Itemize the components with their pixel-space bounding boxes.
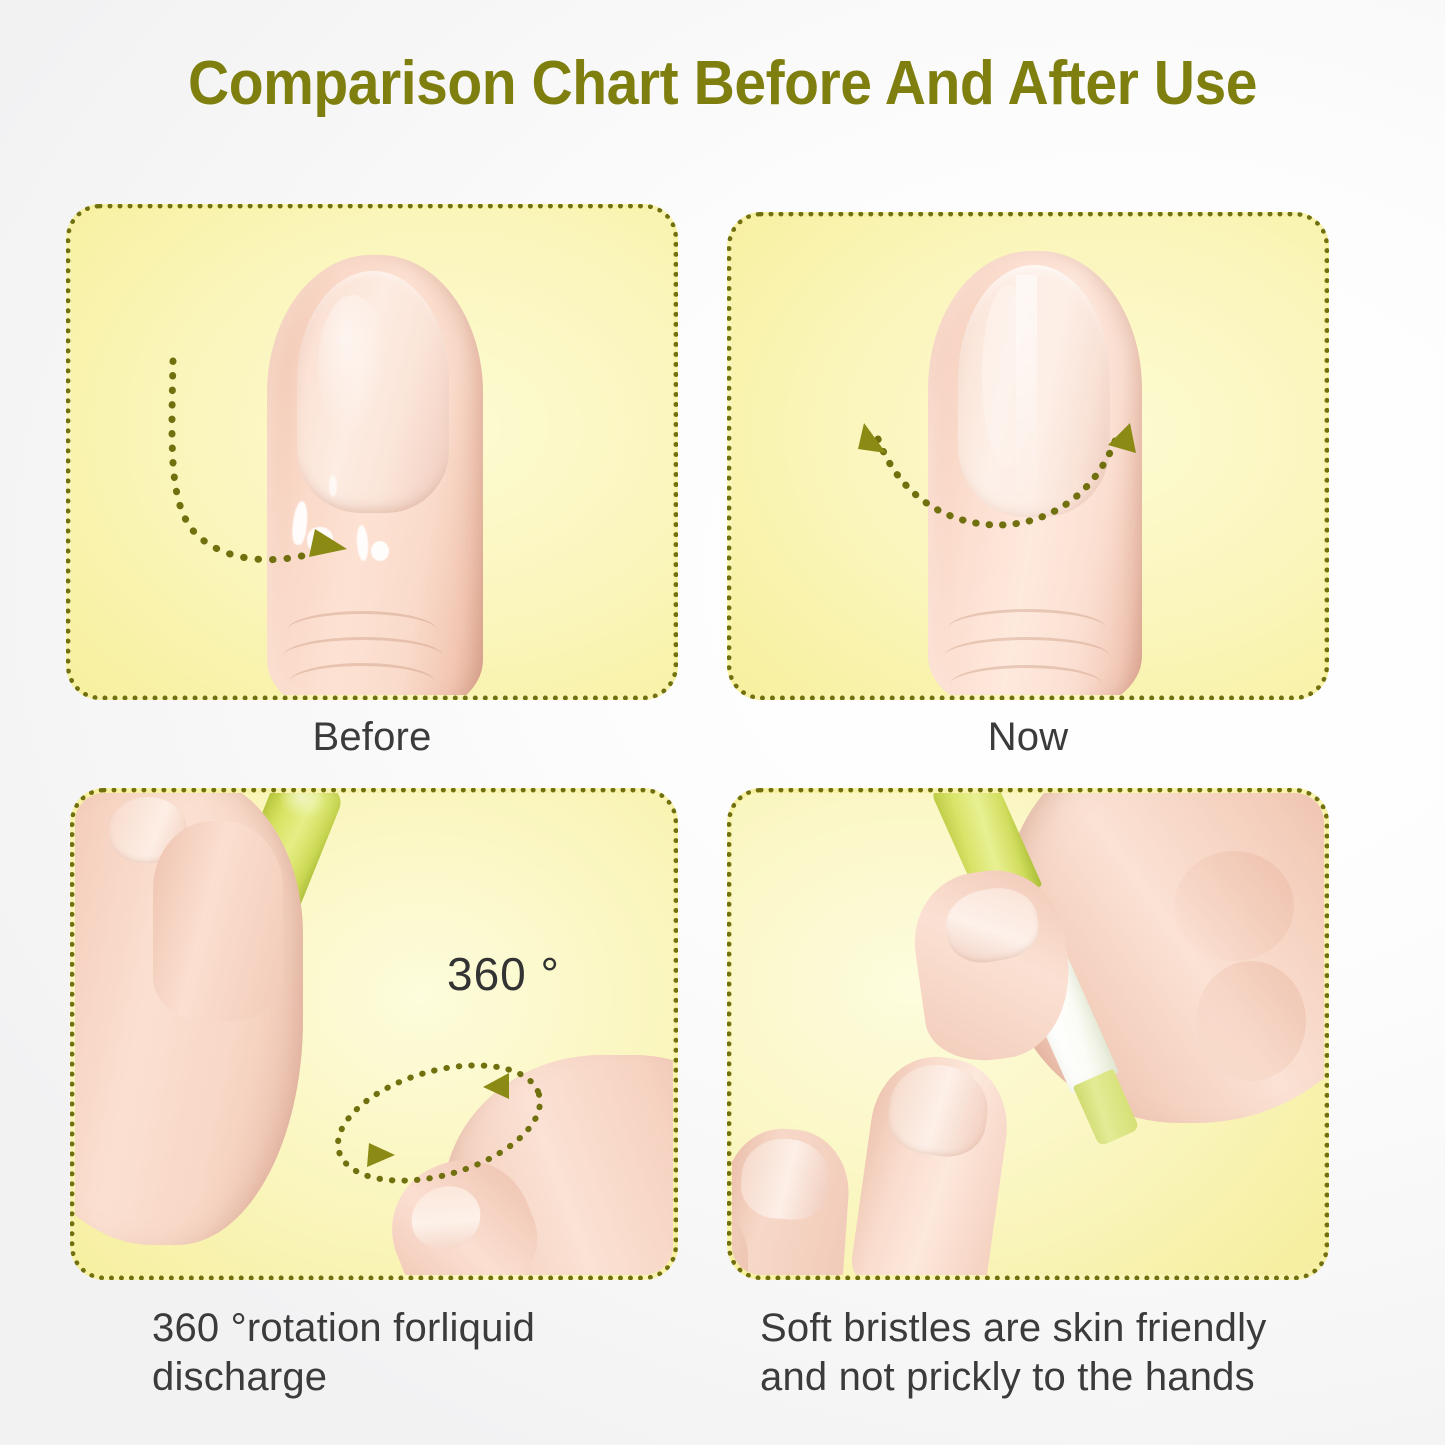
caption-soft-bristles: Soft bristles are skin friendly and not … (760, 1304, 1340, 1402)
panel-before (66, 204, 678, 700)
caption-now: Now (727, 713, 1329, 762)
nail-flake (329, 475, 337, 497)
nail-healthy (958, 265, 1110, 517)
rotation-degree-label: 360 ° (447, 947, 560, 1001)
page-title: Comparison Chart Before And After Use (58, 48, 1387, 119)
panel-before-image (71, 209, 673, 695)
target-fingernail (884, 1059, 994, 1162)
nail-flake (307, 527, 333, 553)
caption-before: Before (66, 713, 678, 762)
panel-now-image (732, 217, 1324, 695)
knuckle (1196, 961, 1306, 1081)
panel-soft-bristles-image (732, 793, 1324, 1275)
adjacent-fingernail (739, 1136, 832, 1222)
panel-rotation-image: 360 ° (75, 793, 673, 1275)
nail-flake (371, 541, 389, 561)
knuckle (1174, 851, 1294, 961)
finger-upper (153, 821, 283, 1021)
infographic-page: Comparison Chart Before And After Use Be… (0, 0, 1445, 1445)
caption-rotation: 360 °rotation forliquid discharge (152, 1304, 712, 1402)
panel-now (727, 212, 1329, 700)
nail-damaged (297, 271, 449, 513)
panel-soft-bristles (727, 788, 1329, 1280)
panel-rotation: 360 ° (70, 788, 678, 1280)
knuckle-crease (289, 663, 435, 695)
